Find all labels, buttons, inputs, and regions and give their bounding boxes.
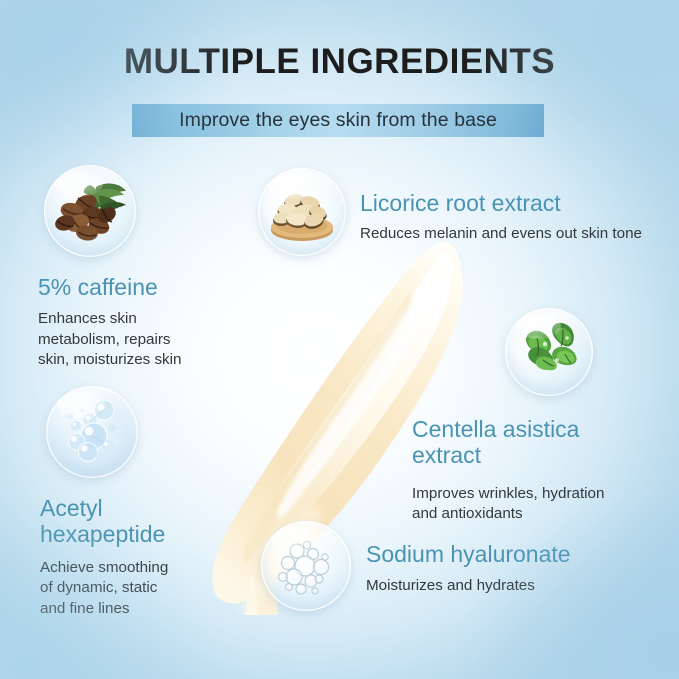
ingredient-name: Centella asistica extract [412, 416, 662, 468]
ingredient-block-licorice: Licorice root extract Reduces melanin an… [258, 168, 658, 256]
subtitle-text: Improve the eyes skin from the base [179, 109, 497, 132]
ingredient-name: Acetyl hexapeptide [40, 495, 230, 547]
ingredient-description: Improves wrinkles, hydration and antioxi… [412, 484, 662, 525]
ingredient-description: Enhances skin metabolism, repairs skin, … [38, 309, 223, 371]
ingredient-block-caffeine: 5% caffeine Enhances skin metabolism, re… [38, 165, 223, 371]
licorice-root-slices-icon [258, 168, 346, 256]
green-leaves-icon [505, 308, 593, 396]
ingredient-description: Achieve smoothing of dynamic, static and… [40, 558, 230, 620]
page-title: MULTIPLE INGREDIENTS [0, 44, 679, 79]
ingredient-block-acetyl-hexapeptide: Acetyl hexapeptide Achieve smoothing of … [40, 386, 230, 620]
ingredient-description: Moisturizes and hydrates [366, 576, 571, 597]
molecule-bubbles-icon [46, 386, 138, 478]
ingredient-block-sodium-hyaluronate: Sodium hyaluronate Moisturizes and hydra… [261, 521, 651, 611]
ingredient-block-centella: Centella asistica extract Improves wrink… [412, 308, 662, 525]
subtitle-banner: Improve the eyes skin from the base [132, 104, 544, 137]
water-droplets-icon [261, 521, 351, 611]
ingredient-name: Licorice root extract [360, 190, 642, 216]
ingredient-name: Sodium hyaluronate [366, 541, 571, 567]
ingredient-description: Reduces melanin and evens out skin tone [360, 224, 642, 245]
ingredients-infographic: MULTIPLE INGREDIENTS Improve the eyes sk… [0, 0, 679, 679]
ingredient-name: 5% caffeine [38, 274, 223, 300]
coffee-beans-icon [44, 165, 136, 257]
